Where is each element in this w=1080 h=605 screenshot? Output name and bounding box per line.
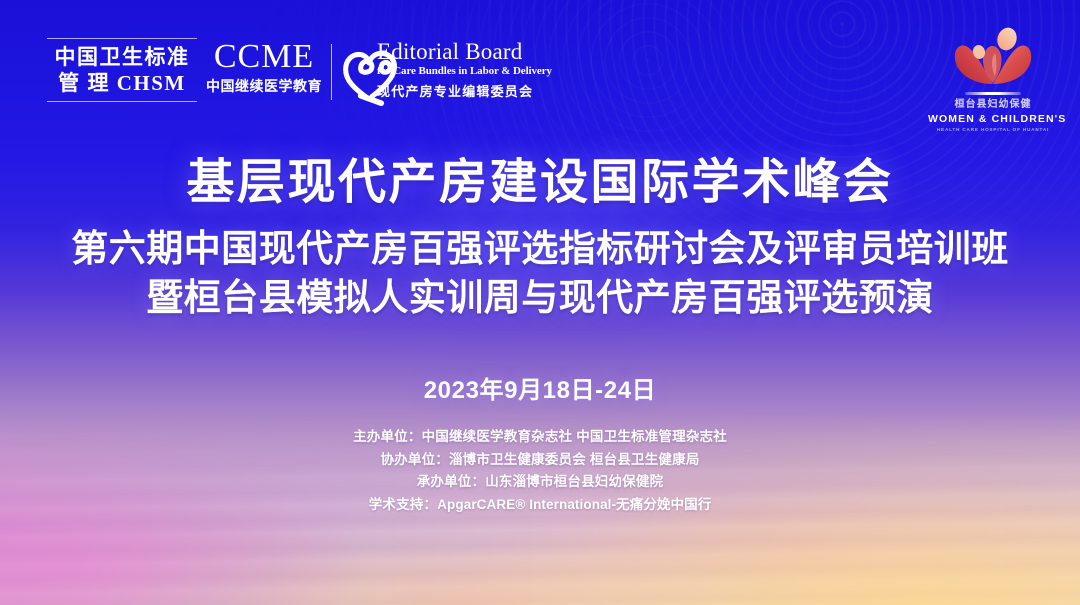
logo-ccme: CCME 中国继续医学教育 — [205, 40, 323, 95]
conference-poster: 中国卫生标准 管 理 CHSM CCME 中国继续医学教育 — [0, 0, 1080, 605]
poster-subtitle-1: 第六期中国现代产房百强评选指标研讨会及评审员培训班 — [0, 225, 1080, 272]
logo-women-children-hospital: 桓台县妇幼保健 WOMEN & CHILDREN'S HEALTH CARE H… — [928, 26, 1058, 133]
wc-english-name: WOMEN & CHILDREN'S — [928, 114, 1058, 125]
credits-block: 主办单位：中国继续医学教育杂志社 中国卫生标准管理杂志社 协办单位：淄博市卫生健… — [0, 430, 1080, 520]
chsm-rule-bottom — [47, 101, 197, 102]
credit-row-host: 承办单位：山东淄博市桓台县妇幼保健院 — [417, 475, 664, 489]
editorial-board-subtitle: for Care Bundles in Labor & Delivery — [377, 65, 552, 79]
wc-chinese-name: 桓台县妇幼保健 — [928, 100, 1058, 110]
logo-divider — [331, 44, 332, 100]
logo-chsm: 中国卫生标准 管 理 CHSM — [47, 38, 197, 102]
credit-value: 淄博市卫生健康委员会 桓台县卫生健康局 — [449, 452, 700, 467]
ccme-acronym: CCME — [205, 40, 323, 74]
ccme-chinese-name: 中国继续医学教育 — [205, 81, 323, 95]
chsm-line2: 管 理 CHSM — [47, 71, 197, 97]
poster-subtitle-2: 暨桓台县模拟人实训周与现代产房百强评选预演 — [0, 274, 1080, 321]
credit-row-organizer: 主办单位：中国继续医学教育杂志社 中国卫生标准管理杂志社 — [353, 430, 727, 444]
credit-row-coorganizer: 协办单位：淄博市卫生健康委员会 桓台县卫生健康局 — [380, 453, 699, 467]
credit-value: ApgarCARE® International-无痛分娩中国行 — [437, 497, 711, 512]
editorial-board-chinese: 现代产房专业编辑委员会 — [377, 85, 552, 98]
logo-underline-bar — [965, 92, 1021, 95]
credit-value: 山东淄博市桓台县妇幼保健院 — [485, 474, 663, 489]
credit-value: 中国继续医学教育杂志社 中国卫生标准管理杂志社 — [422, 429, 727, 444]
editorial-board-title: Editorial Board — [377, 40, 552, 64]
poster-main-title: 基层现代产房建设国际学术峰会 — [0, 155, 1080, 211]
logo-bar: 中国卫生标准 管 理 CHSM CCME 中国继续医学教育 — [0, 0, 1080, 140]
logo-editorial-board: Editorial Board for Care Bundles in Labo… — [377, 40, 552, 98]
lotus-mother-child-icon — [928, 26, 1058, 88]
credit-row-academic-support: 学术支持：ApgarCARE® International-无痛分娩中国行 — [369, 498, 712, 512]
credit-label: 主办单位： — [353, 429, 422, 444]
credit-label: 承办单位： — [417, 474, 486, 489]
chsm-line1: 中国卫生标准 — [47, 45, 197, 71]
credit-label: 学术支持： — [369, 497, 438, 512]
credit-label: 协办单位： — [380, 452, 449, 467]
event-date: 2023年9月18日-24日 — [0, 370, 1080, 405]
headline-block: 基层现代产房建设国际学术峰会 第六期中国现代产房百强评选指标研讨会及评审员培训班… — [0, 155, 1080, 321]
wc-subtitle: HEALTH CARE HOSPITAL OF HUANTAI — [928, 128, 1058, 133]
